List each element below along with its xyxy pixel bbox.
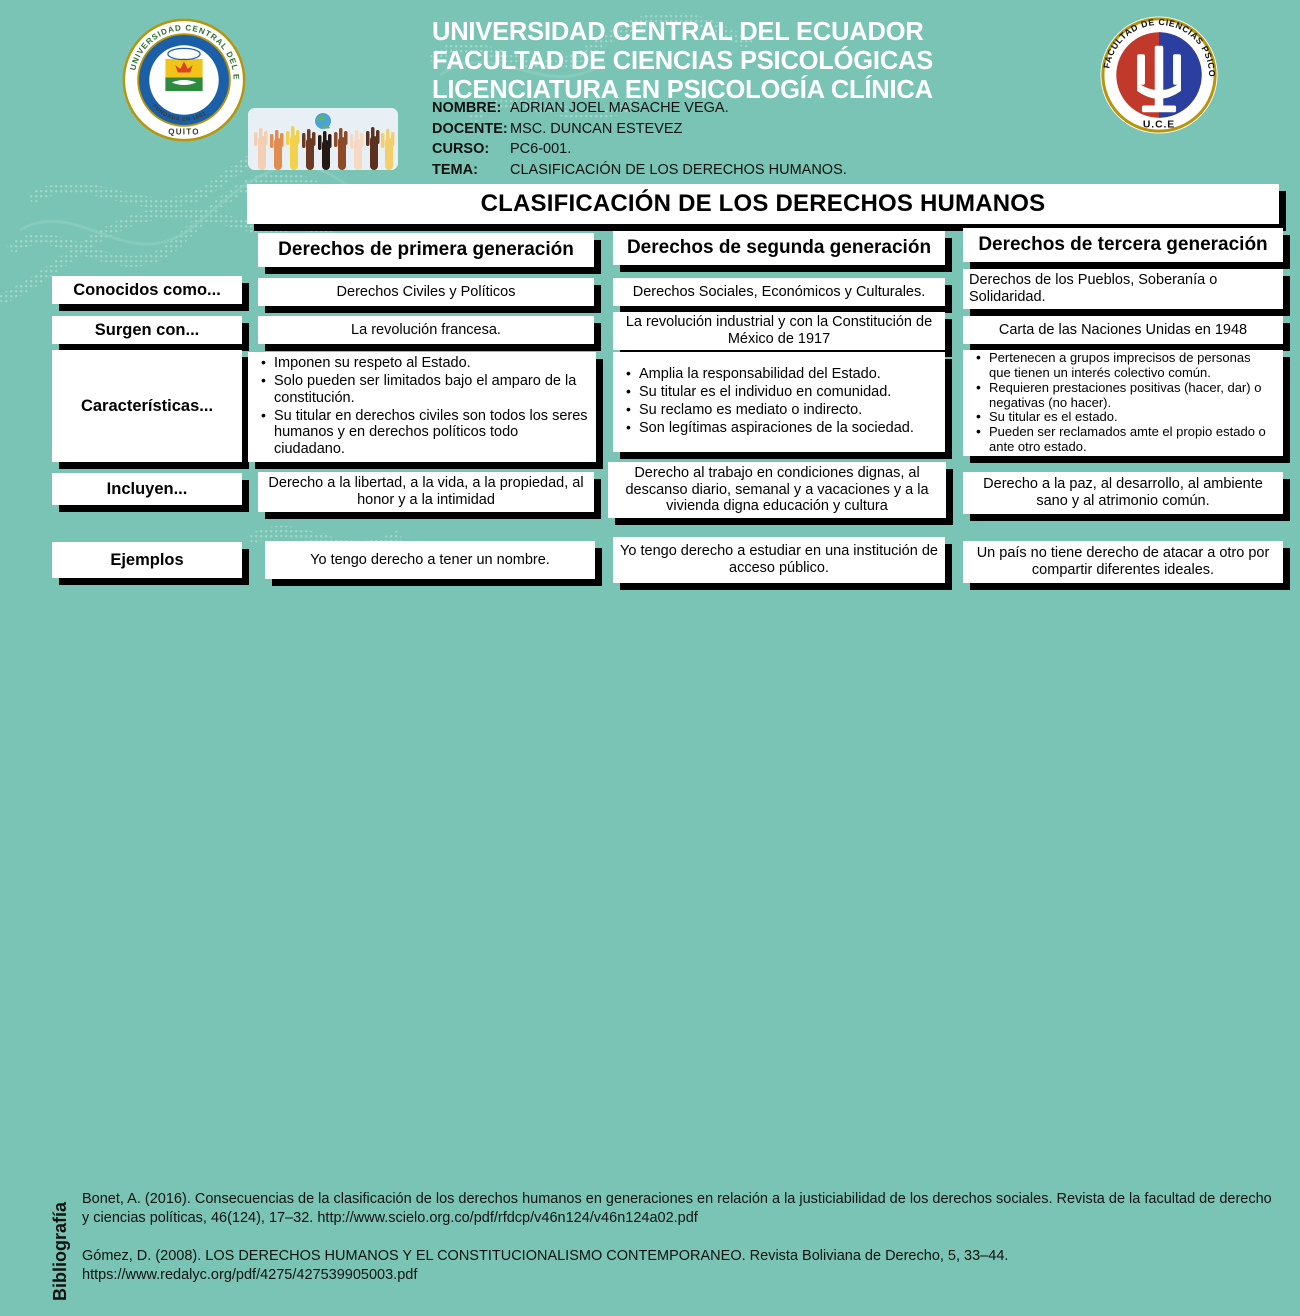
meta-key-curso: CURSO: [432, 139, 510, 160]
psychology-faculty-seal-logo: FACULTAD DE CIENCIAS PSICOLÓGICAS U.C.E [1098, 14, 1220, 136]
bibliography-entry: Gómez, D. (2008). LOS DERECHOS HUMANOS Y… [82, 1247, 1282, 1286]
cell-incluyen-col1: Derecho a la libertad, a la vida, a la p… [258, 472, 594, 512]
column-header-segunda-generacion: Derechos de segunda generación [613, 231, 945, 265]
bullet-list-caracteristicas-col3: Pertenecen a grupos imprecisos de person… [969, 351, 1277, 455]
meta-key-tema: TEMA: [432, 160, 510, 181]
row-label-ejemplos: Ejemplos [52, 542, 242, 578]
list-item: Pertenecen a grupos imprecisos de person… [975, 351, 1275, 381]
uce-university-seal-logo: UNIVERSIDAD CENTRAL DEL ECUADOR FUNDADA … [122, 18, 246, 142]
student-metadata: NOMBRE: ADRIAN JOEL MASACHE VEGA. DOCENT… [432, 98, 1112, 180]
bullet-list-caracteristicas-col2: Amplia la responsabilidad del Estado. Su… [619, 366, 939, 437]
meta-value-docente: MSC. DUNCAN ESTEVEZ [510, 119, 682, 140]
human-rights-hands-image [248, 108, 398, 170]
meta-key-nombre: NOMBRE: [432, 98, 510, 119]
cell-ejemplos-col2: Yo tengo derecho a estudiar en una insti… [613, 537, 945, 583]
bibliography-label-text: Bibliografía [50, 1201, 71, 1300]
list-item: Imponen su respeto al Estado. [260, 355, 588, 372]
svg-text:QUITO: QUITO [168, 128, 200, 137]
cell-conocidos-col3: Derechos de los Pueblos, Soberanía o Sol… [963, 269, 1283, 309]
bibliography-section: Bibliografía Bonet, A. (2016). Consecuen… [0, 590, 1300, 732]
svg-text:U.C.E: U.C.E [1143, 119, 1175, 130]
meta-row-nombre: NOMBRE: ADRIAN JOEL MASACHE VEGA. [432, 98, 1112, 119]
header: UNIVERSIDAD CENTRAL DEL ECUADOR FUNDADA … [0, 0, 1300, 180]
cell-surgen-col1: La revolución francesa. [258, 316, 594, 344]
cell-surgen-col2: La revolución industrial y con la Consti… [613, 312, 945, 350]
meta-value-nombre: ADRIAN JOEL MASACHE VEGA. [510, 98, 729, 119]
infographic-page: UNIVERSIDAD CENTRAL DEL ECUADOR FUNDADA … [0, 0, 1300, 732]
cell-conocidos-col2: Derechos Sociales, Económicos y Cultural… [613, 278, 945, 306]
list-item: Pueden ser reclamados amte el propio est… [975, 425, 1275, 455]
row-label-surgen-con: Surgen con... [52, 316, 242, 344]
bibliography-entries: Bonet, A. (2016). Consecuencias de la cl… [82, 1190, 1282, 1303]
meta-key-docente: DOCENTE: [432, 119, 510, 140]
bullet-list-caracteristicas-col1: Imponen su respeto al Estado. Solo puede… [254, 355, 590, 459]
meta-value-curso: PC6-001. [510, 139, 571, 160]
bibliography-label: Bibliografía [46, 1186, 74, 1316]
cell-caracteristicas-col1: Imponen su respeto al Estado. Solo puede… [248, 352, 596, 462]
row-label-incluyen: Incluyen... [52, 473, 242, 505]
list-item: Su reclamo es mediato o indirecto. [625, 402, 937, 419]
cell-incluyen-col3: Derecho a la paz, al desarrollo, al ambi… [963, 472, 1283, 514]
cell-caracteristicas-col2: Amplia la responsabilidad del Estado. Su… [613, 352, 945, 452]
cell-surgen-col3: Carta de las Naciones Unidas en 1948 [963, 316, 1283, 344]
bibliography-entry: Bonet, A. (2016). Consecuencias de la cl… [82, 1190, 1282, 1229]
cell-incluyen-col2: Derecho al trabajo en condiciones dignas… [608, 462, 946, 518]
row-label-caracteristicas: Características... [52, 350, 242, 462]
cell-ejemplos-col3: Un país no tiene derecho de atacar a otr… [963, 541, 1283, 583]
meta-row-curso: CURSO: PC6-001. [432, 139, 1112, 160]
list-item: Son legítimas aspiraciones de la socieda… [625, 420, 937, 437]
university-title: UNIVERSIDAD CENTRAL DEL ECUADOR FACULTAD… [432, 18, 1112, 104]
meta-row-tema: TEMA: CLASIFICACIÓN DE LOS DERECHOS HUMA… [432, 160, 1112, 181]
page-title: CLASIFICACIÓN DE LOS DERECHOS HUMANOS [247, 184, 1279, 224]
row-label-conocidos-como: Conocidos como... [52, 276, 242, 304]
list-item: Amplia la responsabilidad del Estado. [625, 366, 937, 383]
list-item: Su titular es el estado. [975, 410, 1275, 425]
list-item: Su titular es el individuo en comunidad. [625, 384, 937, 401]
meta-value-tema: CLASIFICACIÓN DE LOS DERECHOS HUMANOS. [510, 160, 847, 181]
column-header-primera-generacion: Derechos de primera generación [258, 233, 594, 267]
university-line-1: UNIVERSIDAD CENTRAL DEL ECUADOR [432, 18, 1112, 47]
meta-row-docente: DOCENTE: MSC. DUNCAN ESTEVEZ [432, 119, 1112, 140]
list-item: Solo pueden ser limitados bajo el amparo… [260, 373, 588, 407]
cell-caracteristicas-col3: Pertenecen a grupos imprecisos de person… [963, 350, 1283, 456]
cell-conocidos-col1: Derechos Civiles y Políticos [258, 278, 594, 306]
column-header-tercera-generacion: Derechos de tercera generación [963, 228, 1283, 262]
list-item: Su titular en derechos civiles son todos… [260, 408, 588, 458]
university-line-2: FACULTAD DE CIENCIAS PSICOLÓGICAS [432, 47, 1112, 76]
cell-ejemplos-col1: Yo tengo derecho a tener un nombre. [265, 541, 595, 579]
list-item: Requieren prestaciones positivas (hacer,… [975, 381, 1275, 411]
